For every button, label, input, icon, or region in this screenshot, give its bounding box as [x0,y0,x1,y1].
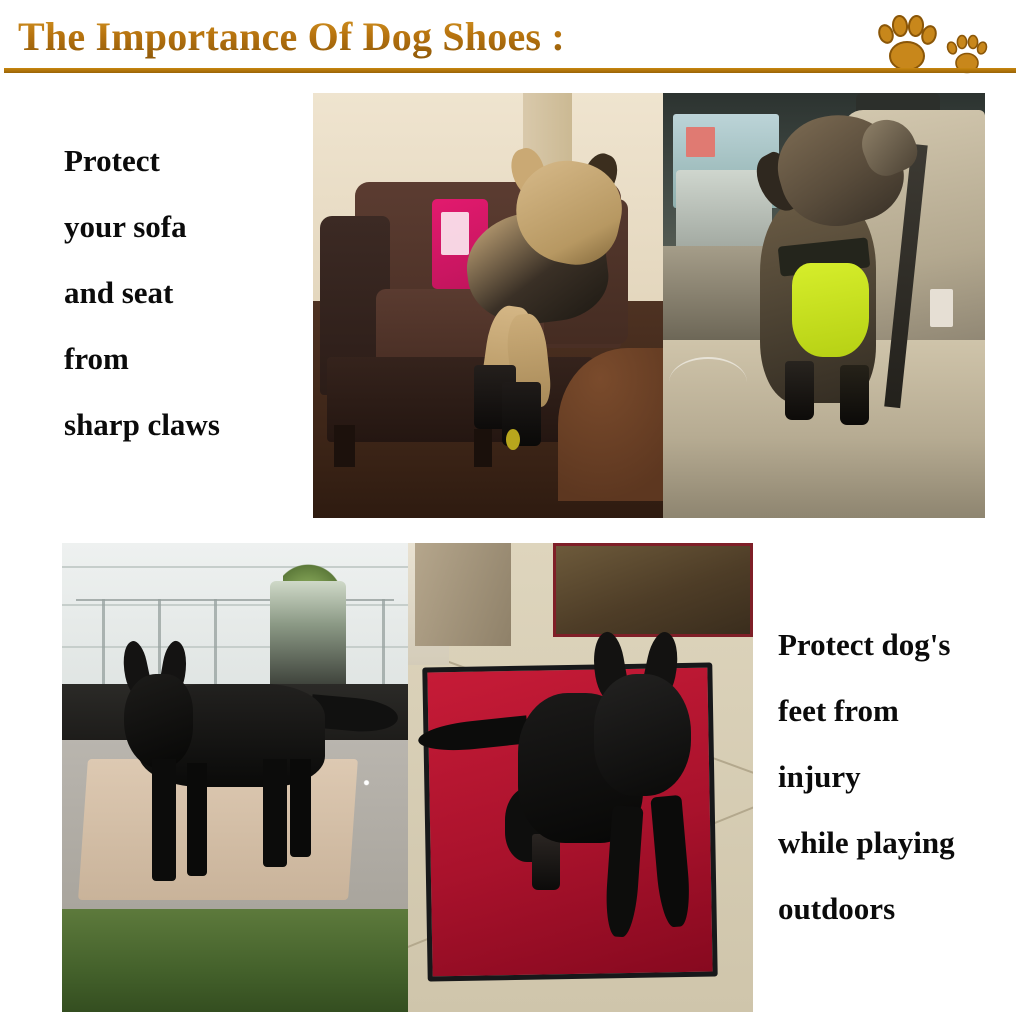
siding-line [62,566,408,568]
photo-dog-on-red-rug-scene [408,543,753,1012]
callout-line: Protect dog's [778,612,955,678]
plant-stand [270,581,346,689]
pillow-label [441,212,469,255]
dog-leg [290,759,311,857]
callout-line: your sofa [64,194,220,260]
dog-leg [152,759,176,881]
callout-line: outdoors [778,876,955,942]
photo-dog-in-car-scene [663,93,985,518]
header-divider-rule [4,68,1016,73]
seat-belt-buckle [930,289,953,327]
photo-dog-on-sofa-scene [313,93,663,518]
protect-sofa-callout: Protect your sofa and seat from sharp cl… [64,128,220,458]
paw-print-large-icon [876,14,938,72]
charging-cord [669,357,746,408]
callout-line: from [64,326,220,392]
callout-line: Protect [64,128,220,194]
sofa-leg [474,429,492,467]
dog-leg [187,763,208,876]
callout-line: and seat [64,260,220,326]
protect-feet-callout: Protect dog's feet from injury while pla… [778,612,955,942]
dog-head [124,674,193,768]
dog-boot [785,361,814,421]
lawn-grass [62,909,408,1012]
callout-line: sharp claws [64,392,220,458]
infographic-page: The Importance Of Dog Shoes : Protect yo… [0,0,1024,1024]
dog-boot [840,365,869,425]
callout-line: feet from [778,678,955,744]
photo-dog-outdoors [62,543,408,1012]
callout-line: injury [778,744,955,810]
roadside-sign [686,127,715,157]
photo-dog-outdoors-scene [62,543,408,1012]
dog-boot [532,834,560,890]
garden-fence [76,599,394,693]
photo-dog-in-car [663,93,985,518]
header: The Importance Of Dog Shoes : [0,0,1024,80]
dog-boot-tag [506,429,520,450]
oriental-rug [553,543,753,637]
photo-dog-on-sofa [313,93,663,518]
dog-leg [263,759,287,867]
curtain-drape [415,543,512,646]
dog-head [594,674,691,796]
photo-dog-on-red-rug [408,543,753,1012]
sofa-base [327,357,593,442]
sofa-leg [334,425,355,468]
page-title: The Importance Of Dog Shoes : [18,12,565,62]
yellow-harness [792,263,869,357]
paw-print-group [876,14,1016,74]
callout-line: while playing [778,810,955,876]
